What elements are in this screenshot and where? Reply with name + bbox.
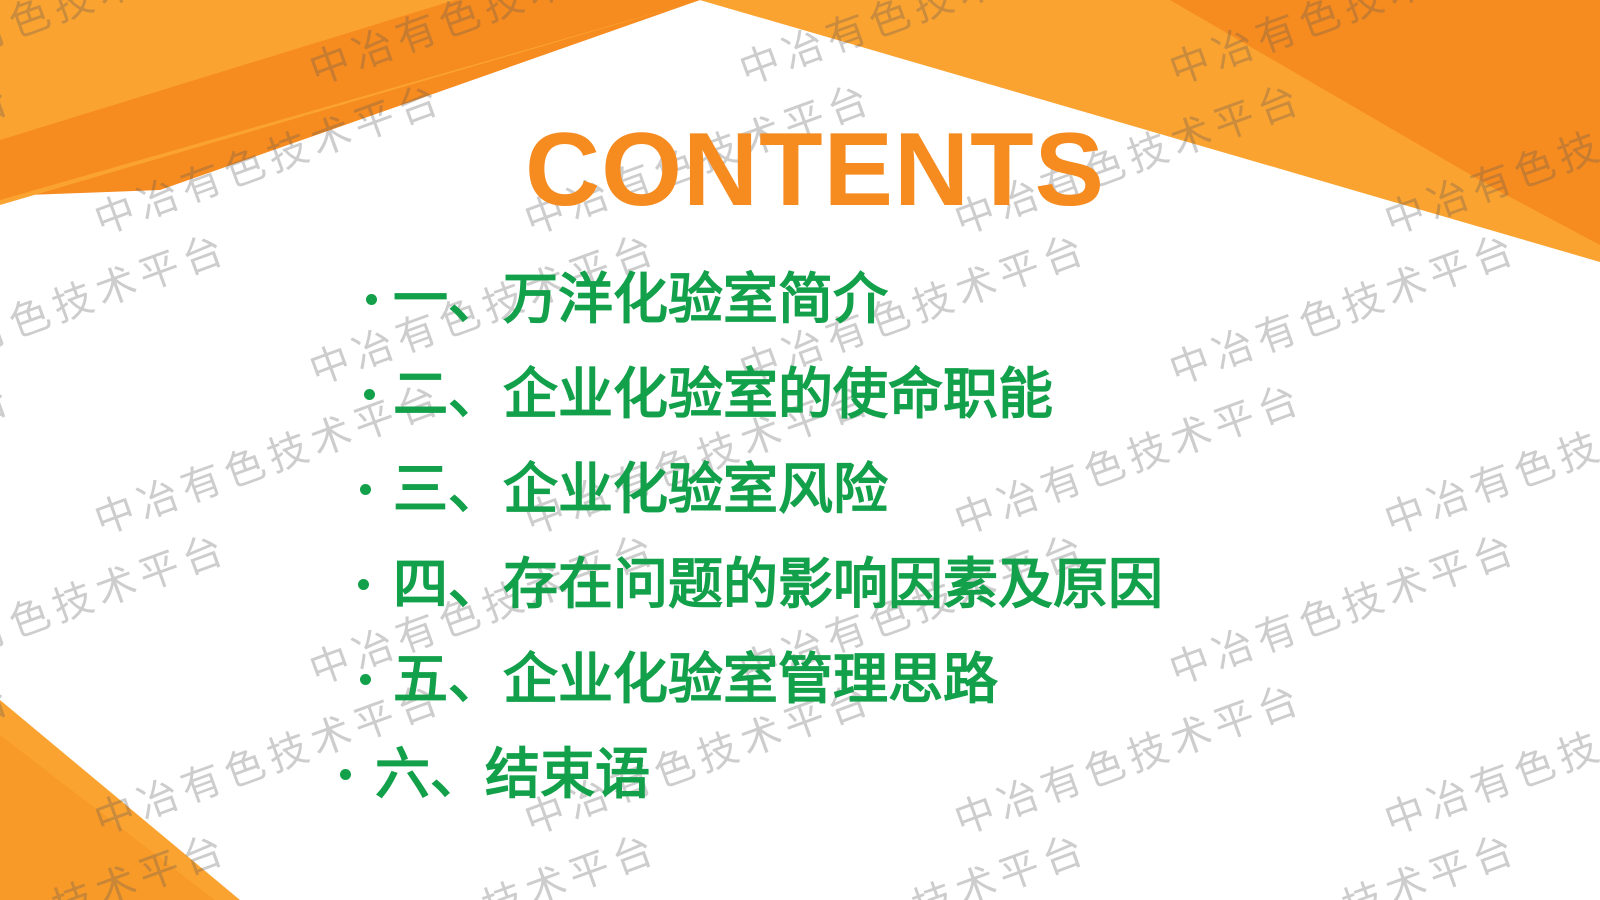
- bullet-icon: [360, 674, 371, 685]
- bullet-icon: [358, 579, 369, 590]
- list-item[interactable]: 四、存在问题的影响因素及原因: [0, 537, 1600, 632]
- bullet-icon: [364, 389, 375, 400]
- list-item[interactable]: 二、企业化验室的使命职能: [0, 347, 1600, 442]
- list-item[interactable]: 一、万洋化验室简介: [0, 252, 1600, 347]
- list-item-label: 一、万洋化验室简介: [393, 272, 888, 327]
- list-item[interactable]: 五、企业化验室管理思路: [0, 632, 1600, 727]
- list-item[interactable]: 三、企业化验室风险: [0, 442, 1600, 537]
- list-item[interactable]: 六、结束语: [0, 727, 1600, 822]
- list-item-label: 五、企业化验室管理思路: [393, 652, 998, 707]
- bullet-icon: [366, 294, 377, 305]
- page-title: CONTENTS: [0, 118, 1600, 222]
- presentation-slide: 中冶有色技术平台中冶有色技术平台中冶有色技术平台中冶有色技术平台中冶有色技术平台…: [0, 0, 1600, 900]
- table-of-contents-list: 一、万洋化验室简介 二、企业化验室的使命职能 三、企业化验室风险 四、存在问题的…: [0, 252, 1600, 822]
- bullet-icon: [340, 769, 351, 780]
- slide-content: CONTENTS 一、万洋化验室简介 二、企业化验室的使命职能 三、企业化验室风…: [0, 0, 1600, 900]
- list-item-label: 四、存在问题的影响因素及原因: [393, 557, 1163, 612]
- list-item-label: 六、结束语: [375, 747, 650, 802]
- list-item-label: 三、企业化验室风险: [393, 462, 888, 517]
- list-item-label: 二、企业化验室的使命职能: [393, 367, 1053, 422]
- bullet-icon: [360, 484, 371, 495]
